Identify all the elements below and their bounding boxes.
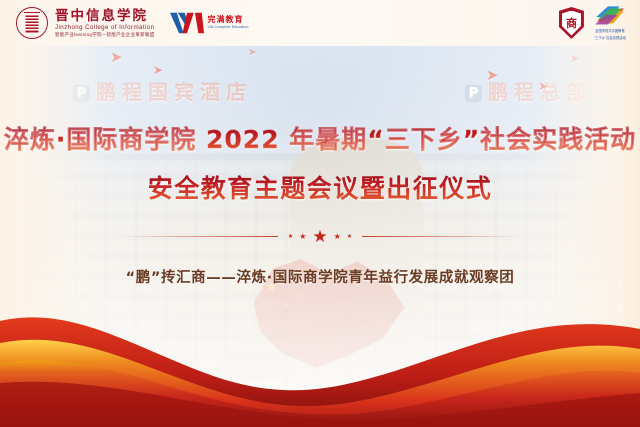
college-tagline-cn: 智能产业learning学院—智能产业企业革新联盟	[55, 33, 154, 38]
divider-star-3: ★	[312, 228, 327, 245]
youth-league-logo: 全国学校共青团教育 "三下乡"社会实践活动	[594, 5, 626, 41]
college-logo: 晋中信息学院 Jinzhong College of Information 智…	[16, 7, 154, 39]
college-crest-icon	[16, 7, 48, 39]
divider-star-5: ★	[347, 234, 352, 240]
star-divider: ★ ★ ★ ★ ★	[0, 228, 640, 245]
via-mark-icon	[170, 11, 204, 35]
shield-emblem-icon: 商	[559, 7, 584, 39]
partner-name-cn: 完满教育	[207, 16, 248, 25]
youth-league-caption-1: 全国学校共青团教育	[595, 29, 625, 34]
left-fade	[18, 46, 108, 401]
shield-glyph: 商	[566, 15, 577, 31]
poster-title-line1: 淬炼·国际商学院 2022 年暑期“三下乡”社会实践活动	[0, 120, 640, 156]
right-fade	[532, 46, 622, 401]
logo-header: 晋中信息学院 Jinzhong College of Information 智…	[0, 0, 640, 46]
poster-tagline: “鹏”抟汇商——淬炼·国际商学院青年益行发展成就观察团	[0, 266, 640, 287]
right-logo-group: 商 全国学校共青团教育 "三下乡"社会实践活动	[559, 5, 626, 41]
poster-title-line2: 安全教育主题会议暨出征仪式	[0, 169, 640, 205]
divider-star-1: ★	[288, 234, 293, 240]
title-block: 淬炼·国际商学院 2022 年暑期“三下乡”社会实践活动 安全教育主题会议暨出征…	[0, 120, 640, 205]
divider-stars: ★ ★ ★ ★ ★	[278, 228, 362, 245]
divider-star-4: ★	[334, 233, 341, 241]
rainbow-ribbon-icon	[594, 5, 626, 27]
divider-line-left	[118, 236, 278, 237]
partner-logo-text: 完满教育 VIA Complete Education	[207, 16, 248, 30]
shield-inner: 商	[562, 11, 581, 36]
college-name-en: Jinzhong College of Information	[55, 25, 154, 32]
background-photo: P鹏程国宾酒店 P鹏程总部 ➤ ➤ ➤ ➤ ➤ ➤ ★ ★ ★ ★ ★	[18, 46, 622, 401]
divider-line-right	[362, 236, 522, 237]
youth-league-caption-2: "三下乡"社会实践活动	[594, 36, 626, 41]
event-poster: P鹏程国宾酒店 P鹏程总部 ➤ ➤ ➤ ➤ ➤ ➤ ★ ★ ★ ★ ★	[0, 0, 640, 427]
college-name-cn: 晋中信息学院	[55, 9, 154, 23]
college-logo-text: 晋中信息学院 Jinzhong College of Information 智…	[55, 9, 154, 38]
partner-name-en: VIA Complete Education	[207, 26, 248, 30]
partner-logo: 完满教育 VIA Complete Education	[170, 11, 248, 35]
divider-star-2: ★	[299, 233, 306, 241]
